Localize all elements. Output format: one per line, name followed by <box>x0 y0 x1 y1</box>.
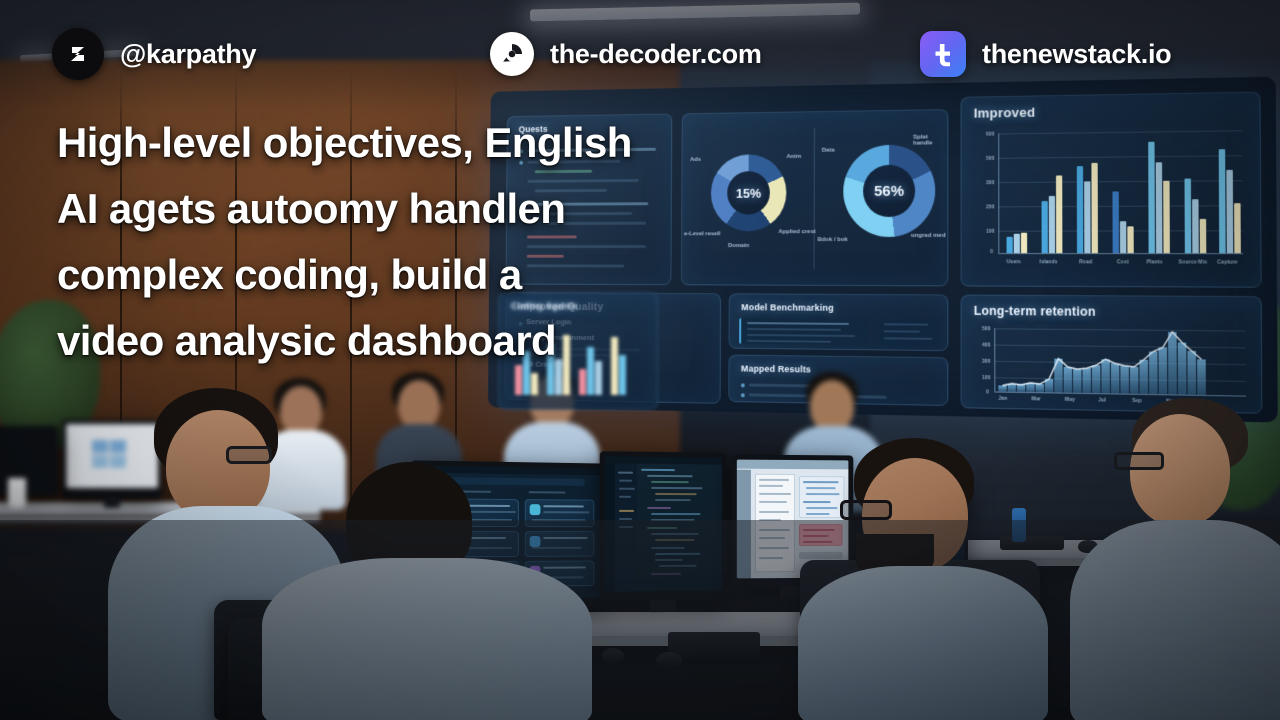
donut-right-value: 56% <box>843 144 935 237</box>
bar <box>1148 142 1155 253</box>
file-item-active[interactable] <box>619 510 634 512</box>
bar <box>1120 221 1126 253</box>
head <box>1130 414 1230 526</box>
list-bullet <box>741 383 745 387</box>
eyeglasses <box>840 500 892 520</box>
text-line <box>759 493 791 495</box>
bar <box>1112 191 1119 253</box>
brand-thenewstack[interactable]: thenewstack.io <box>920 31 1171 77</box>
bar <box>1014 234 1020 253</box>
retention-plot-area <box>994 328 1246 395</box>
x-axis-tick: Users <box>1007 259 1021 265</box>
y-axis-tick: 200 <box>986 204 995 210</box>
tile <box>92 455 108 468</box>
donut-right-label: Data <box>822 148 835 154</box>
code-line <box>651 513 700 515</box>
screenshot-root: Quests 15% <box>0 0 1280 720</box>
x-axis-tick: Jan <box>998 396 1007 402</box>
eyeglasses <box>1114 452 1164 470</box>
bar <box>1192 199 1199 253</box>
axis-y <box>998 133 999 253</box>
x-axis-tick: Road <box>1079 259 1092 265</box>
y-axis-tick: 500 <box>986 156 995 162</box>
bar <box>1127 226 1133 253</box>
gridline <box>998 155 1242 159</box>
head <box>398 380 440 430</box>
headline-line-2: AI agets autoomy handlen <box>57 176 817 242</box>
panel-retention-title: Long-term retention <box>974 304 1096 319</box>
text-line <box>759 479 789 481</box>
y-axis-tick: 300 <box>982 359 991 365</box>
eyeglasses <box>226 446 272 464</box>
benchmark-summary <box>879 319 939 346</box>
summary-row <box>884 330 920 332</box>
donut-chart-right: 56% <box>843 144 935 237</box>
bar <box>1007 237 1013 253</box>
summary-row <box>884 337 932 340</box>
y-axis-tick: 300 <box>986 180 995 186</box>
bar-chart-plot-area <box>998 130 1243 253</box>
bar <box>1042 201 1048 253</box>
x-axis-tick: Cost <box>1117 259 1129 265</box>
bar <box>1077 166 1083 253</box>
list-bullet <box>741 393 745 397</box>
panel-long-term-retention: Long-term retention <box>961 295 1263 414</box>
y-axis-tick: 100 <box>982 375 991 381</box>
axis-x <box>998 253 1243 254</box>
decoder-circle-logo-icon <box>490 32 534 76</box>
bar <box>1219 149 1226 253</box>
bar <box>1226 170 1233 253</box>
karpathy-z-logo-icon <box>52 28 104 80</box>
bar <box>531 373 538 395</box>
panel-improved-bar-chart: Improved <box>961 92 1262 288</box>
text-line <box>759 485 783 487</box>
x-axis-tick: Islands <box>1040 259 1058 265</box>
decoder-domain-label: the-decoder.com <box>550 39 762 70</box>
x-axis-tick: Capture <box>1217 259 1237 265</box>
bar <box>1091 163 1098 253</box>
code-line <box>655 493 697 495</box>
gridline <box>998 130 1242 134</box>
gridline <box>998 205 1242 207</box>
bar <box>1049 196 1055 253</box>
text-line <box>759 501 787 503</box>
summary-row <box>884 323 928 325</box>
karpathy-handle-label: @karpathy <box>120 39 256 70</box>
x-axis-tick: Mar <box>1031 396 1040 402</box>
code-line <box>655 499 691 501</box>
x-axis-tick: Source Mix <box>1178 259 1207 265</box>
brand-decoder[interactable]: the-decoder.com <box>490 32 762 76</box>
y-axis-tick: 100 <box>986 229 995 235</box>
floor <box>0 520 1280 720</box>
headline-line-3: complex coding, build a <box>57 242 817 308</box>
y-axis-tick: 0 <box>990 249 993 255</box>
x-axis-tick: Plants <box>1146 259 1162 265</box>
file-item[interactable] <box>618 472 633 474</box>
bar <box>1084 181 1090 253</box>
headline-line-4: video analysic dashboard <box>57 308 817 374</box>
x-axis-tick: May <box>1065 397 1075 403</box>
y-axis-tick: 0 <box>986 389 989 395</box>
file-item[interactable] <box>619 488 635 490</box>
bar <box>1163 181 1170 253</box>
thenewstack-t-logo-icon <box>920 31 966 77</box>
bar <box>1056 175 1062 253</box>
y-axis-tick: 500 <box>982 326 991 332</box>
bar <box>1021 233 1027 253</box>
bar <box>1234 203 1241 253</box>
brand-header-bar: @karpathy the-decoder.com thenewstac <box>0 0 1280 108</box>
code-line <box>651 481 689 483</box>
code-line <box>641 469 675 471</box>
bar <box>1200 219 1207 253</box>
code-line <box>651 487 702 489</box>
file-item[interactable] <box>619 496 631 498</box>
thenewstack-domain-label: thenewstack.io <box>982 39 1171 70</box>
code-line <box>647 475 693 477</box>
brand-karpathy[interactable]: @karpathy <box>52 28 256 80</box>
gridline <box>998 180 1242 183</box>
text-line <box>759 511 789 513</box>
headline-overlay: High-level objectives, English AI agets … <box>57 110 817 374</box>
y-axis-tick: 600 <box>986 132 995 138</box>
headline-line-1: High-level objectives, English <box>57 110 817 176</box>
y-axis-tick: 400 <box>982 342 991 348</box>
bar <box>1156 162 1163 253</box>
code-line <box>647 507 671 509</box>
paper-cup <box>8 478 26 508</box>
tile <box>92 440 108 453</box>
file-item[interactable] <box>619 480 632 482</box>
retention-trend-line <box>994 328 1246 395</box>
head <box>810 380 854 432</box>
donut-right-label: Bdok / bok <box>818 237 848 243</box>
bar <box>1185 179 1192 254</box>
